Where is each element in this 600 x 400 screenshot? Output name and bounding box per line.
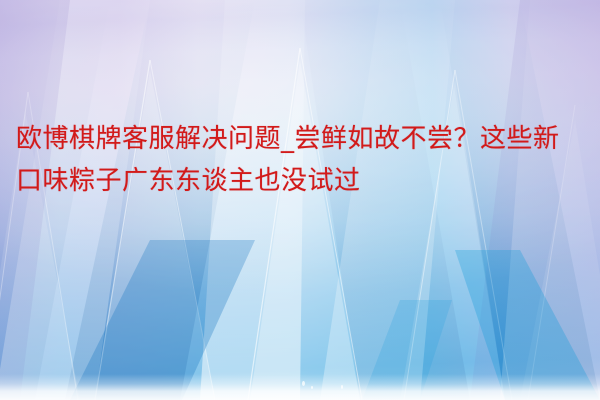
promo-banner: 欧博棋牌客服解决问题_尝鲜如故不尝？这些新口味粽子广东东谈主也没试过	[0, 0, 600, 400]
banner-headline: 欧博棋牌客服解决问题_尝鲜如故不尝？这些新口味粽子广东东谈主也没试过	[16, 118, 584, 202]
